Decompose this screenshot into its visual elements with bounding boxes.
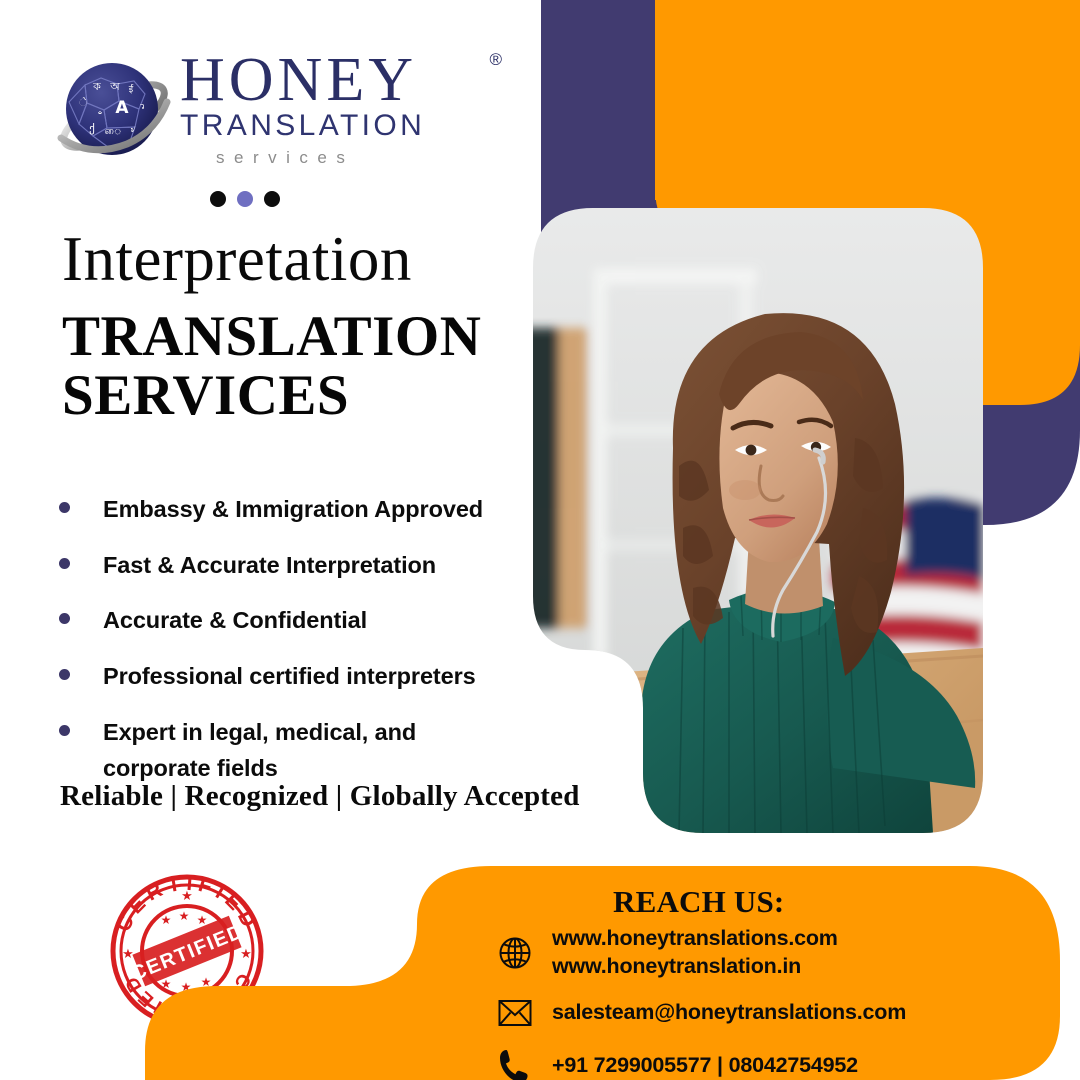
list-item: Accurate & Confidential	[55, 603, 525, 639]
contact-card: REACH US: www.honeytranslations.com www	[145, 866, 1060, 1080]
page-title: Interpretation TRANSLATION SERVICES	[62, 228, 542, 430]
divider-dot-3	[264, 191, 280, 207]
orange-shape-block	[655, 0, 1080, 200]
headline-script: Interpretation	[62, 228, 542, 291]
contact-row-email[interactable]: salesteam@honeytranslations.com	[494, 992, 1054, 1034]
website-primary: www.honeytranslations.com	[552, 925, 838, 953]
registered-mark-icon: ®	[489, 50, 502, 70]
list-item-label: Expert in legal, medical, and corporate …	[103, 715, 448, 786]
contact-email-text: salesteam@honeytranslations.com	[552, 999, 906, 1027]
brand-wordmark: HONEY® TRANSLATION services	[180, 48, 480, 168]
svg-text:ை: ை	[104, 126, 121, 137]
contact-phone-text: +91 7299005577 | 08042754952	[552, 1052, 858, 1080]
list-item: Expert in legal, medical, and corporate …	[55, 715, 525, 786]
divider-dot-1	[210, 191, 226, 207]
svg-text:★: ★	[122, 947, 134, 962]
headline-bold-1: TRANSLATION	[62, 303, 542, 370]
bullet-dot-icon	[59, 613, 70, 624]
feature-list: Embassy & Immigration Approved Fast & Ac…	[55, 492, 525, 806]
brand-logo[interactable]: ক অ ई ે ಀ A ว ქ ை ৶ HONEY® TRANSLATION s…	[55, 48, 475, 178]
contact-title: REACH US:	[613, 884, 784, 920]
svg-text:ক: ক	[92, 80, 101, 93]
contact-website-text: www.honeytranslations.com www.honeytrans…	[552, 925, 838, 981]
contact-rows: www.honeytranslations.com www.honeytrans…	[494, 925, 1054, 1080]
list-item: Professional certified interpreters	[55, 659, 525, 695]
contact-row-phone[interactable]: +91 7299005577 | 08042754952	[494, 1045, 1054, 1080]
website-secondary: www.honeytranslation.in	[552, 953, 838, 981]
tagline: Reliable | Recognized | Globally Accepte…	[60, 780, 580, 813]
list-item-label: Fast & Accurate Interpretation	[103, 548, 436, 584]
globe-languages-icon: ক অ ई ે ಀ A ว ქ ை ৶	[55, 54, 173, 172]
interpreter-photo	[533, 208, 983, 833]
envelope-icon	[494, 992, 536, 1034]
divider-dot-2	[237, 191, 253, 207]
brand-name-tertiary: services	[180, 148, 480, 168]
bullet-dot-icon	[59, 669, 70, 680]
svg-text:A: A	[115, 98, 129, 118]
svg-text:অ: অ	[109, 80, 120, 93]
brand-name-primary: HONEY	[180, 48, 417, 113]
poster-canvas: ক অ ई ે ಀ A ว ქ ை ৶ HONEY® TRANSLATION s…	[0, 0, 1080, 1080]
headline-bold-2: SERVICES	[62, 362, 542, 429]
phone-icon	[494, 1045, 536, 1080]
list-item-label: Accurate & Confidential	[103, 603, 367, 639]
bullet-dot-icon	[59, 502, 70, 513]
svg-text:ว: ว	[139, 102, 144, 112]
brand-name-secondary: TRANSLATION	[180, 109, 480, 143]
logo-divider-dots	[210, 191, 280, 207]
globe-icon	[494, 932, 536, 974]
list-item: Fast & Accurate Interpretation	[55, 548, 525, 584]
svg-text:ಀ: ಀ	[97, 103, 102, 117]
contact-row-website[interactable]: www.honeytranslations.com www.honeytrans…	[494, 925, 1054, 981]
list-item-label: Embassy & Immigration Approved	[103, 492, 483, 528]
list-item: Embassy & Immigration Approved	[55, 492, 525, 528]
svg-text:ે: ે	[79, 96, 87, 109]
svg-text:৶: ৶	[131, 125, 136, 135]
svg-text:ქ: ქ	[89, 122, 95, 135]
list-item-label: Professional certified interpreters	[103, 659, 476, 695]
bullet-dot-icon	[59, 725, 70, 736]
bullet-dot-icon	[59, 558, 70, 569]
